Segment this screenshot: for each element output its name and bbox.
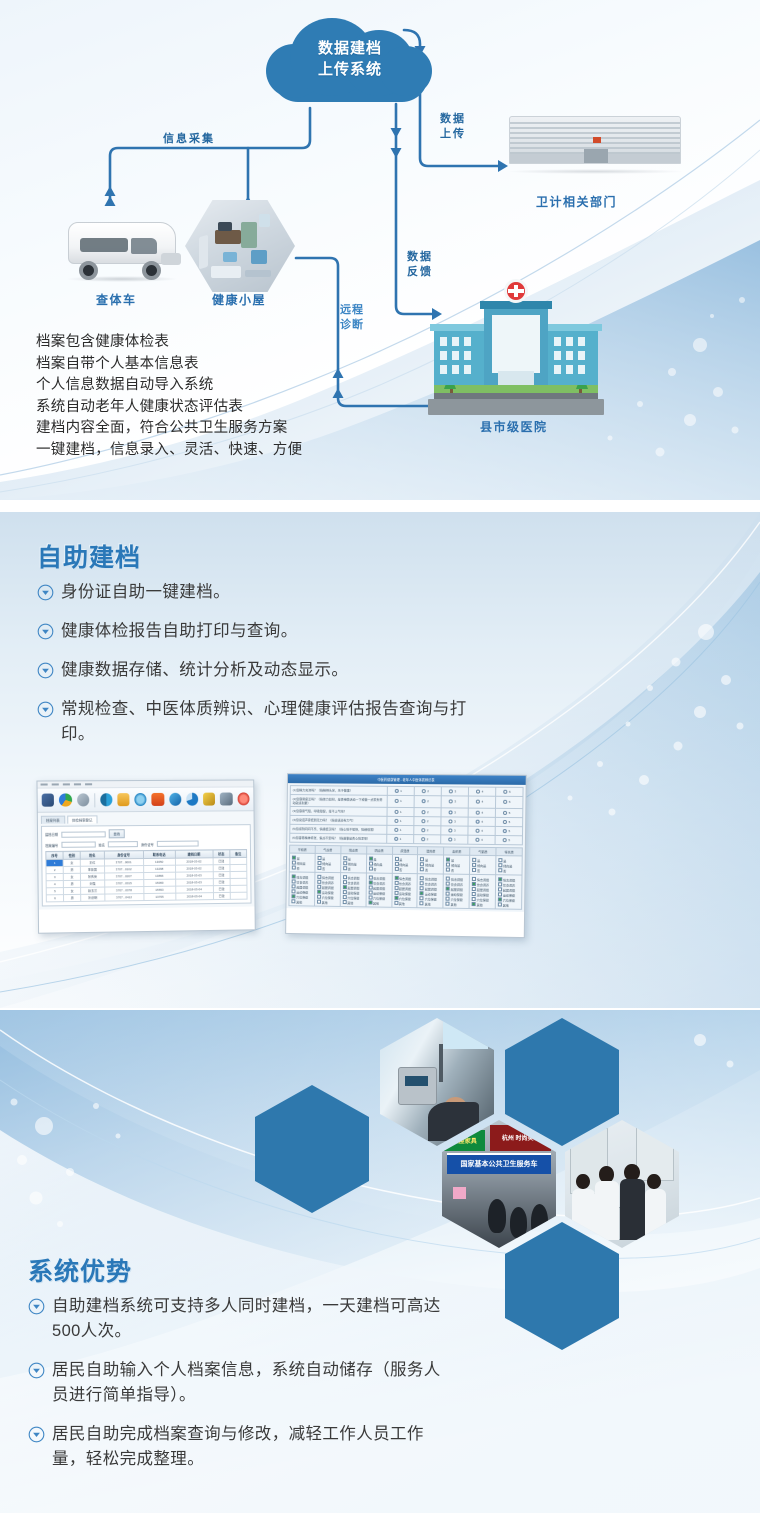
van-wheel-rear	[79, 261, 98, 280]
constitution-result-cell[interactable]: 是 倾向是 否	[470, 855, 496, 874]
questionnaire-title: 中医药健康管理 - 老年人中医体质辨识表	[291, 776, 523, 783]
filter-input-date[interactable]	[61, 831, 105, 837]
col-gender: 性别	[63, 851, 80, 859]
chevron-down-circle-icon	[28, 1362, 45, 1379]
constitution-result-cell[interactable]: 是 倾向是 否	[496, 856, 523, 875]
constitution-result-cell[interactable]: 是 倾向是 否	[444, 855, 470, 874]
note-line: 系统自动老年人健康状态评估表	[36, 397, 456, 419]
flow-label-upload-line1: 数据	[440, 112, 466, 127]
office-flag	[593, 137, 601, 143]
screenshot-panel: 建档日期 查询 档案编号 姓名 身份证号 序号	[41, 824, 252, 906]
list-item: 居民自助完成档案查询与修改，减轻工作人员工作量，轻松完成整理。	[28, 1422, 448, 1472]
radio-label: 2	[427, 837, 429, 841]
van-window-rear	[80, 238, 128, 252]
section3-bullet-list: 自助建档系统可支持多人同时建档，一天建档可高达500人次。 居民自助输入个人档案…	[28, 1294, 448, 1486]
radio-label: 1	[400, 809, 402, 813]
question-option-cell[interactable]: 3	[441, 817, 468, 826]
hut-monitor	[218, 222, 232, 231]
list-item: 健康数据存储、统计分析及动态显示。	[37, 658, 497, 683]
constitution-advice-cell[interactable]: 情志调摄 饮食调养 起居调摄 运动保健 穴位保健 其他	[314, 872, 340, 906]
table-cell: 6	[46, 895, 63, 902]
constitution-advice-cell[interactable]: 情志调摄 饮食调养 起居调摄 运动保健 穴位保健 其他	[391, 873, 417, 907]
checkbox-label: 否	[321, 866, 325, 870]
radio-label: 1	[400, 799, 402, 803]
question-option-cell[interactable]: 4	[468, 787, 495, 796]
checkbox-label: 是	[321, 856, 325, 860]
bullet-text: 身份证自助一键建档。	[61, 580, 230, 605]
radio-label: 3	[454, 799, 456, 803]
note-line: 档案自带个人基本信息表	[36, 354, 456, 376]
radio-label: 2	[427, 828, 429, 832]
radio-button[interactable]	[502, 829, 506, 833]
radio-button[interactable]	[476, 789, 480, 793]
question-option-cell[interactable]: 2	[414, 826, 441, 835]
filter-input-archive-no[interactable]	[61, 841, 95, 847]
screenshot-workspace: 档案列表 体检档案登记 建档日期 查询 档案编号 姓名 身份证号	[38, 811, 255, 909]
section-system-advantages: 全屋家具 杭州 时尚美发 国家基本公共卫生服务车 系统优势	[0, 1010, 760, 1513]
van-window-front	[131, 238, 157, 254]
screenshot-tcm-questionnaire-window[interactable]: 中医药健康管理 - 老年人中医体质辨识表 (1)您精力充沛吗？（指精神头足，乐于…	[285, 773, 527, 938]
radio-label: 2	[427, 810, 429, 814]
constitution-table: 平和质气虚质阳虚质阴虚质痰湿质湿热质血瘀质气郁质特禀质 是 倾向是 否 是 倾向…	[288, 845, 522, 910]
radio-label: 3	[454, 810, 456, 814]
cloud-node-data-upload-system: 数据建档 上传系统	[262, 12, 438, 112]
radio-label: 5	[509, 820, 511, 824]
question-option-cell[interactable]: 2	[414, 835, 441, 844]
filter-input-name[interactable]	[108, 841, 138, 847]
question-option-cell[interactable]: 5	[495, 817, 523, 826]
checkbox-label: 是	[424, 858, 428, 862]
radio-button[interactable]	[448, 810, 452, 814]
table-cell: 男	[64, 894, 81, 901]
checkbox-label: 其他	[476, 903, 483, 907]
chevron-down-circle-icon	[37, 662, 54, 679]
radio-label: 3	[454, 819, 456, 823]
node-label-hospital: 县市级医院	[480, 418, 548, 435]
col-name: 姓名	[80, 851, 104, 859]
constitution-result-cell[interactable]: 是 倾向是 否	[418, 855, 444, 874]
search-button[interactable]: 查询	[108, 829, 125, 838]
radio-button[interactable]	[421, 799, 425, 803]
bullet-text: 健康体检报告自助打印与查询。	[61, 619, 298, 644]
radio-button[interactable]	[421, 789, 425, 793]
van-grille	[161, 253, 181, 265]
checkbox-label: 是	[502, 859, 506, 863]
note-line: 建档内容全面，符合公共卫生服务方案	[36, 418, 456, 440]
constitution-result-cell[interactable]: 是 倾向是 否	[315, 853, 341, 872]
table-cell	[230, 892, 247, 899]
question-option-cell[interactable]: 3	[441, 808, 468, 817]
radio-label: 1	[400, 788, 402, 792]
radio-label: 2	[427, 819, 429, 823]
hospital-wing-right	[548, 331, 598, 385]
radio-label: 5	[509, 789, 511, 793]
list-item: 自助建档系统可支持多人同时建档，一天建档可高达500人次。	[28, 1294, 448, 1344]
toolbar-icon-search[interactable]	[77, 793, 89, 806]
filter-label-idcard: 身份证号	[141, 841, 154, 846]
question-option-cell[interactable]: 1	[387, 834, 414, 843]
radio-label: 5	[508, 829, 510, 833]
checkbox-label: 是	[450, 858, 454, 862]
radio-button[interactable]	[421, 837, 425, 841]
flow-label-upload-line2: 上传	[440, 127, 466, 142]
question-option-cell[interactable]: 2	[414, 817, 441, 826]
feature-notes-list: 档案包含健康体检表 档案自带个人基本信息表 个人信息数据自动导入系统 系统自动老…	[36, 332, 456, 461]
checkbox-label: 否	[347, 867, 351, 871]
questionnaire-body: (1)您精力充沛吗？（指精神头足，乐于做事）12345(2)您容易疲乏吗？（指体…	[286, 783, 525, 912]
radio-button[interactable]	[503, 819, 507, 823]
question-option-cell[interactable]: 4	[468, 796, 495, 808]
question-option-cell[interactable]: 2	[414, 787, 441, 796]
chevron-down-circle-icon	[28, 1298, 45, 1315]
question-text: (6)您容易精神紧张、焦虑不安吗？（指遇事是否心情紧张）	[290, 833, 387, 843]
flow-label-remote-diagnosis: 远程 诊断	[340, 303, 364, 333]
checkbox-label: 其他	[424, 902, 431, 906]
question-option-cell[interactable]: 3	[441, 787, 468, 796]
radio-button[interactable]	[394, 836, 398, 840]
question-option-cell[interactable]: 3	[441, 796, 468, 808]
radio-button[interactable]	[448, 837, 452, 841]
radio-button[interactable]	[421, 819, 425, 823]
radio-button[interactable]	[394, 827, 398, 831]
office-shadow	[505, 169, 685, 174]
question-text: (2)您容易疲乏吗？（指体力如何，是否稍微活动一下或做一点家务劳动就感到累）	[290, 795, 387, 808]
checkbox-label: 否	[373, 867, 377, 871]
bullet-text: 居民自助输入个人档案信息，系统自动储存（服务人员进行简单指导）。	[52, 1358, 448, 1408]
checkbox-label: 其他	[295, 900, 302, 904]
radio-button[interactable]	[448, 819, 452, 823]
constitution-advice-cell[interactable]: 情志调摄 饮食调养 起居调摄 运动保健 穴位保健 其他	[417, 874, 443, 908]
checkbox-label: 否	[398, 867, 402, 871]
photo-caption-service-van-banner: 国家基本公共卫生服务车	[447, 1153, 552, 1173]
radio-button[interactable]	[475, 800, 479, 804]
constitution-advice-cell[interactable]: 情志调摄 饮食调养 起居调摄 运动保健 穴位保健 其他	[366, 873, 392, 907]
question-option-cell[interactable]: 2	[414, 796, 441, 808]
node-health-hut	[185, 200, 295, 292]
hut-wall-cabinet	[259, 214, 270, 227]
radio-button[interactable]	[421, 810, 425, 814]
flow-label-remote-line2: 诊断	[340, 318, 364, 333]
flow-label-feedback-line1: 数据	[407, 250, 433, 265]
constitution-result-cell[interactable]: 是 倾向是 否	[366, 854, 392, 873]
radio-button[interactable]	[475, 837, 479, 841]
hospital-wing-left-cornice	[430, 324, 488, 331]
checkbox-label: 其他	[346, 901, 353, 905]
constitution-advice-cell[interactable]: 情志调摄 饮食调养 起居调摄 运动保健 穴位保健 其他	[495, 875, 522, 910]
constitution-advice-cell[interactable]: 情志调摄 饮食调养 起居调摄 运动保健 穴位保健 其他	[469, 874, 496, 909]
question-option-cell[interactable]: 1	[387, 816, 414, 825]
list-item: 常规检查、中医体质辨识、心理健康评估报告查询与打印。	[37, 697, 497, 747]
questionnaire-table: (1)您精力充沛吗？（指精神头足，乐于做事）12345(2)您容易疲乏吗？（指体…	[289, 785, 523, 845]
toolbar-icon-export[interactable]	[42, 794, 55, 807]
chevron-down-circle-icon	[37, 623, 54, 640]
question-option-cell[interactable]: 1	[387, 786, 414, 795]
hospital-wing-right-cornice	[544, 324, 602, 331]
node-label-office: 卫计相关部门	[536, 193, 617, 210]
hut-screen-panel	[199, 235, 208, 270]
radio-label: 5	[509, 800, 511, 804]
filter-label-name: 姓名	[98, 842, 104, 847]
table-cell: 孙德明	[81, 894, 104, 901]
radio-label: 3	[454, 828, 456, 832]
flow-label-collect: 信息采集	[163, 132, 215, 147]
checkbox-label: 其他	[321, 900, 328, 904]
radio-button[interactable]	[394, 809, 398, 813]
question-option-cell[interactable]: 5	[495, 826, 523, 835]
radio-button[interactable]	[394, 799, 398, 803]
tab-exam-registration[interactable]: 体检档案登记	[67, 815, 98, 823]
radio-label: 5	[508, 838, 510, 842]
radio-label: 3	[454, 837, 456, 841]
checkbox-label: 倾向是	[502, 864, 512, 868]
toolbar-icon-chart-pie[interactable]	[59, 793, 72, 806]
note-line: 档案包含健康体检表	[36, 332, 456, 354]
radio-label: 1	[400, 827, 402, 831]
list-item: 居民自助输入个人档案信息，系统自动储存（服务人员进行简单指导）。	[28, 1358, 448, 1408]
constitution-result-cell[interactable]: 是 倾向是 否	[289, 853, 315, 872]
flow-label-upload: 数据 上传	[440, 112, 466, 142]
checkbox-label: 是	[347, 857, 351, 861]
radio-button[interactable]	[448, 828, 452, 832]
checkbox-label: 是	[398, 857, 402, 861]
question-option-cell[interactable]: 1	[387, 807, 414, 816]
van-wheel-front	[142, 261, 161, 280]
radio-button[interactable]	[448, 799, 452, 803]
chevron-down-circle-icon	[37, 584, 54, 601]
col-index: 序号	[46, 851, 63, 859]
radio-button[interactable]	[475, 819, 479, 823]
radio-label: 1	[400, 818, 402, 822]
node-health-authority-building	[505, 110, 685, 176]
checkbox-label: 否	[450, 868, 454, 872]
list-item: 健康体检报告自助打印与查询。	[37, 619, 497, 644]
chevron-down-circle-icon	[37, 701, 54, 718]
node-label-hut: 健康小屋	[212, 291, 266, 308]
van-body	[68, 222, 176, 264]
radio-button[interactable]	[394, 788, 398, 792]
section2-bullet-list: 身份证自助一键建档。 健康体检报告自助打印与查询。 健康数据存储、统计分析及动态…	[37, 580, 497, 761]
radio-button[interactable]	[421, 828, 425, 832]
cloud-label-line1: 数据建档	[262, 38, 438, 59]
toolbar-icon-tools[interactable]	[220, 793, 232, 806]
filter-label-date: 建档日期	[45, 832, 58, 837]
hut-floor-mat	[211, 266, 241, 278]
bullet-text: 健康数据存储、统计分析及动态显示。	[61, 658, 348, 683]
checkbox-label: 其他	[450, 902, 457, 906]
checkbox-label: 否	[424, 868, 428, 872]
cloud-label: 数据建档 上传系统	[262, 38, 438, 80]
question-option-cell[interactable]: 4	[468, 817, 495, 826]
node-label-van: 查体车	[96, 291, 137, 308]
screenshot-toolbar	[38, 787, 254, 812]
constitution-result-cell[interactable]: 是 倾向是 否	[392, 854, 418, 873]
radio-button[interactable]	[503, 800, 507, 804]
section2-title: 自助建档	[37, 538, 141, 574]
question-option-cell[interactable]: 5	[495, 808, 523, 817]
hut-stool	[223, 252, 237, 262]
screenshot-archive-list-window[interactable]: 档案列表 体检档案登记 建档日期 查询 档案编号 姓名 身份证号	[36, 779, 255, 933]
toolbar-icon-exit[interactable]	[237, 792, 249, 805]
flow-label-remote-line1: 远程	[340, 303, 364, 318]
constitution-advice-cell[interactable]: 情志调摄 饮食调养 起居调摄 运动保健 穴位保健 其他	[443, 874, 469, 908]
flow-label-feedback-line2: 反馈	[407, 265, 433, 280]
radio-label: 3	[454, 789, 456, 793]
question-option-cell[interactable]: 2	[414, 808, 441, 817]
constitution-advice-row: 情志调摄 饮食调养 起居调摄 运动保健 穴位保健 其他 情志调摄 饮食调养 起居…	[289, 872, 522, 909]
question-option-cell[interactable]: 3	[441, 826, 468, 835]
radio-label: 4	[481, 800, 483, 804]
checkbox-label: 否	[476, 868, 480, 872]
office-entrance	[584, 149, 608, 163]
table-row[interactable]: 6男孙德明3707...0412137052018-03-04已建	[46, 892, 247, 902]
flow-label-feedback: 数据 反馈	[407, 250, 433, 280]
toolbar-icon-document[interactable]	[117, 793, 129, 806]
radio-label: 4	[481, 828, 483, 832]
toolbar-icon-settings[interactable]	[135, 793, 147, 806]
radio-button[interactable]	[448, 789, 452, 793]
toolbar-icon-statistics[interactable]	[152, 793, 164, 806]
radio-button[interactable]	[503, 789, 507, 793]
radio-label: 5	[509, 810, 511, 814]
hut-chair	[251, 250, 267, 264]
table-cell: 2018-03-04	[175, 893, 213, 900]
checkbox-label: 是	[476, 858, 480, 862]
constitution-advice-cell[interactable]: 情志调摄 饮食调养 起居调摄 运动保健 穴位保健 其他	[340, 873, 366, 907]
constitution-advice-cell[interactable]: 情志调摄 饮食调养 起居调摄 运动保健 穴位保健 其他	[289, 872, 315, 906]
bullet-text: 常规检查、中医体质辨识、心理健康评估报告查询与打印。	[61, 697, 497, 747]
col-remark: 备注	[230, 849, 247, 857]
checkbox-label: 倾向是	[373, 862, 383, 866]
office-facade	[509, 116, 681, 164]
hospital-red-cross-icon	[504, 279, 528, 303]
radio-label: 4	[482, 789, 484, 793]
question-option-cell[interactable]: 5	[495, 835, 523, 844]
section-data-upload-flow: 数据建档 上传系统 信息采集 数据 上传 数据 反馈 远程 诊断	[0, 0, 760, 500]
col-status: 状态	[213, 850, 230, 858]
radio-label: 4	[481, 819, 483, 823]
table-cell: 已建	[213, 892, 230, 899]
filter-row-main: 档案编号 姓名 身份证号	[45, 840, 247, 848]
toolbar-icon-key[interactable]	[203, 793, 215, 806]
filter-input-idcard[interactable]	[157, 841, 199, 847]
checkbox-label: 是	[296, 856, 300, 860]
radio-button[interactable]	[475, 828, 479, 832]
checkbox-label: 是	[373, 857, 377, 861]
note-line: 一键建档，信息录入、灵活、快速、方便	[36, 440, 456, 462]
radio-label: 4	[481, 810, 483, 814]
node-medical-examination-van	[62, 212, 182, 284]
hospital-plinth-top	[434, 393, 598, 399]
checkbox-label: 倾向是	[424, 863, 434, 867]
bullet-text: 自助建档系统可支持多人同时建档，一天建档可高达500人次。	[52, 1294, 448, 1344]
checkbox-label: 否	[296, 866, 300, 870]
hut-desk	[215, 230, 241, 244]
radio-label: 1	[400, 836, 402, 840]
radio-button[interactable]	[503, 810, 507, 814]
poster-page: 数据建档 上传系统 信息采集 数据 上传 数据 反馈 远程 诊断	[0, 0, 760, 1513]
filter-row-date: 建档日期 查询	[45, 828, 247, 839]
toolbar-icon-sync[interactable]	[186, 793, 198, 806]
tab-archive-list[interactable]: 档案列表	[41, 816, 65, 824]
radio-label: 2	[427, 789, 429, 793]
toolbar-icon-user[interactable]	[169, 793, 181, 806]
checkbox-label: 否	[502, 869, 506, 873]
radio-button[interactable]	[394, 818, 398, 822]
section3-title: 系统优势	[28, 1252, 132, 1288]
question-option-cell[interactable]: 1	[387, 825, 414, 834]
question-option-cell[interactable]: 5	[495, 796, 523, 808]
checkbox-label: 其他	[372, 901, 379, 905]
radio-label: 4	[481, 837, 483, 841]
question-option-cell[interactable]: 3	[441, 835, 468, 844]
hospital-glass-curtain	[492, 315, 540, 373]
checkbox-label: 其他	[398, 901, 405, 905]
questionnaire-row: (6)您容易精神紧张、焦虑不安吗？（指遇事是否心情紧张）12345	[290, 833, 523, 845]
radio-button[interactable]	[502, 838, 506, 842]
bullet-text: 居民自助完成档案查询与修改，减轻工作人员工作量，轻松完成整理。	[52, 1422, 448, 1472]
question-option-cell[interactable]: 5	[496, 787, 524, 796]
filter-label-archive-no: 档案编号	[45, 842, 58, 847]
section-self-service-archiving: 自助建档 身份证自助一键建档。 健康体检报告自助打印与查询。 健康数据存储、统计…	[0, 512, 760, 1008]
chevron-down-circle-icon	[28, 1426, 45, 1443]
table-cell: 3707...0412	[104, 894, 143, 902]
question-option-cell[interactable]: 4	[468, 808, 495, 817]
question-option-cell[interactable]: 1	[387, 795, 414, 807]
radio-label: 2	[427, 799, 429, 803]
list-item: 身份证自助一键建档。	[37, 580, 497, 605]
radio-button[interactable]	[475, 810, 479, 814]
hut-bench	[245, 270, 271, 277]
hut-partition	[241, 222, 257, 248]
table-cell: 13705	[144, 893, 176, 900]
question-option-cell[interactable]: 4	[468, 835, 495, 844]
cloud-label-line2: 上传系统	[262, 59, 438, 80]
constitution-result-cell[interactable]: 是 倾向是 否	[340, 854, 366, 873]
screenshot-tabstrip: 档案列表 体检档案登记	[41, 814, 251, 824]
checkbox-label: 其他	[502, 903, 509, 907]
question-option-cell[interactable]: 4	[468, 826, 495, 835]
hospital-lawn	[434, 385, 598, 393]
toolbar-icon-globe[interactable]	[100, 793, 112, 806]
archive-table: 序号 性别 姓名 身份证号 联系电话 建档日期 状态 备注 1女王红3707..…	[45, 849, 247, 902]
archive-table-body: 1女王红3707...0001130502018-03-02已建2男李建国370…	[46, 857, 247, 901]
hospital-entrance	[498, 371, 534, 385]
checkbox-label: 倾向是	[476, 863, 486, 867]
note-line: 个人信息数据自动导入系统	[36, 375, 456, 397]
